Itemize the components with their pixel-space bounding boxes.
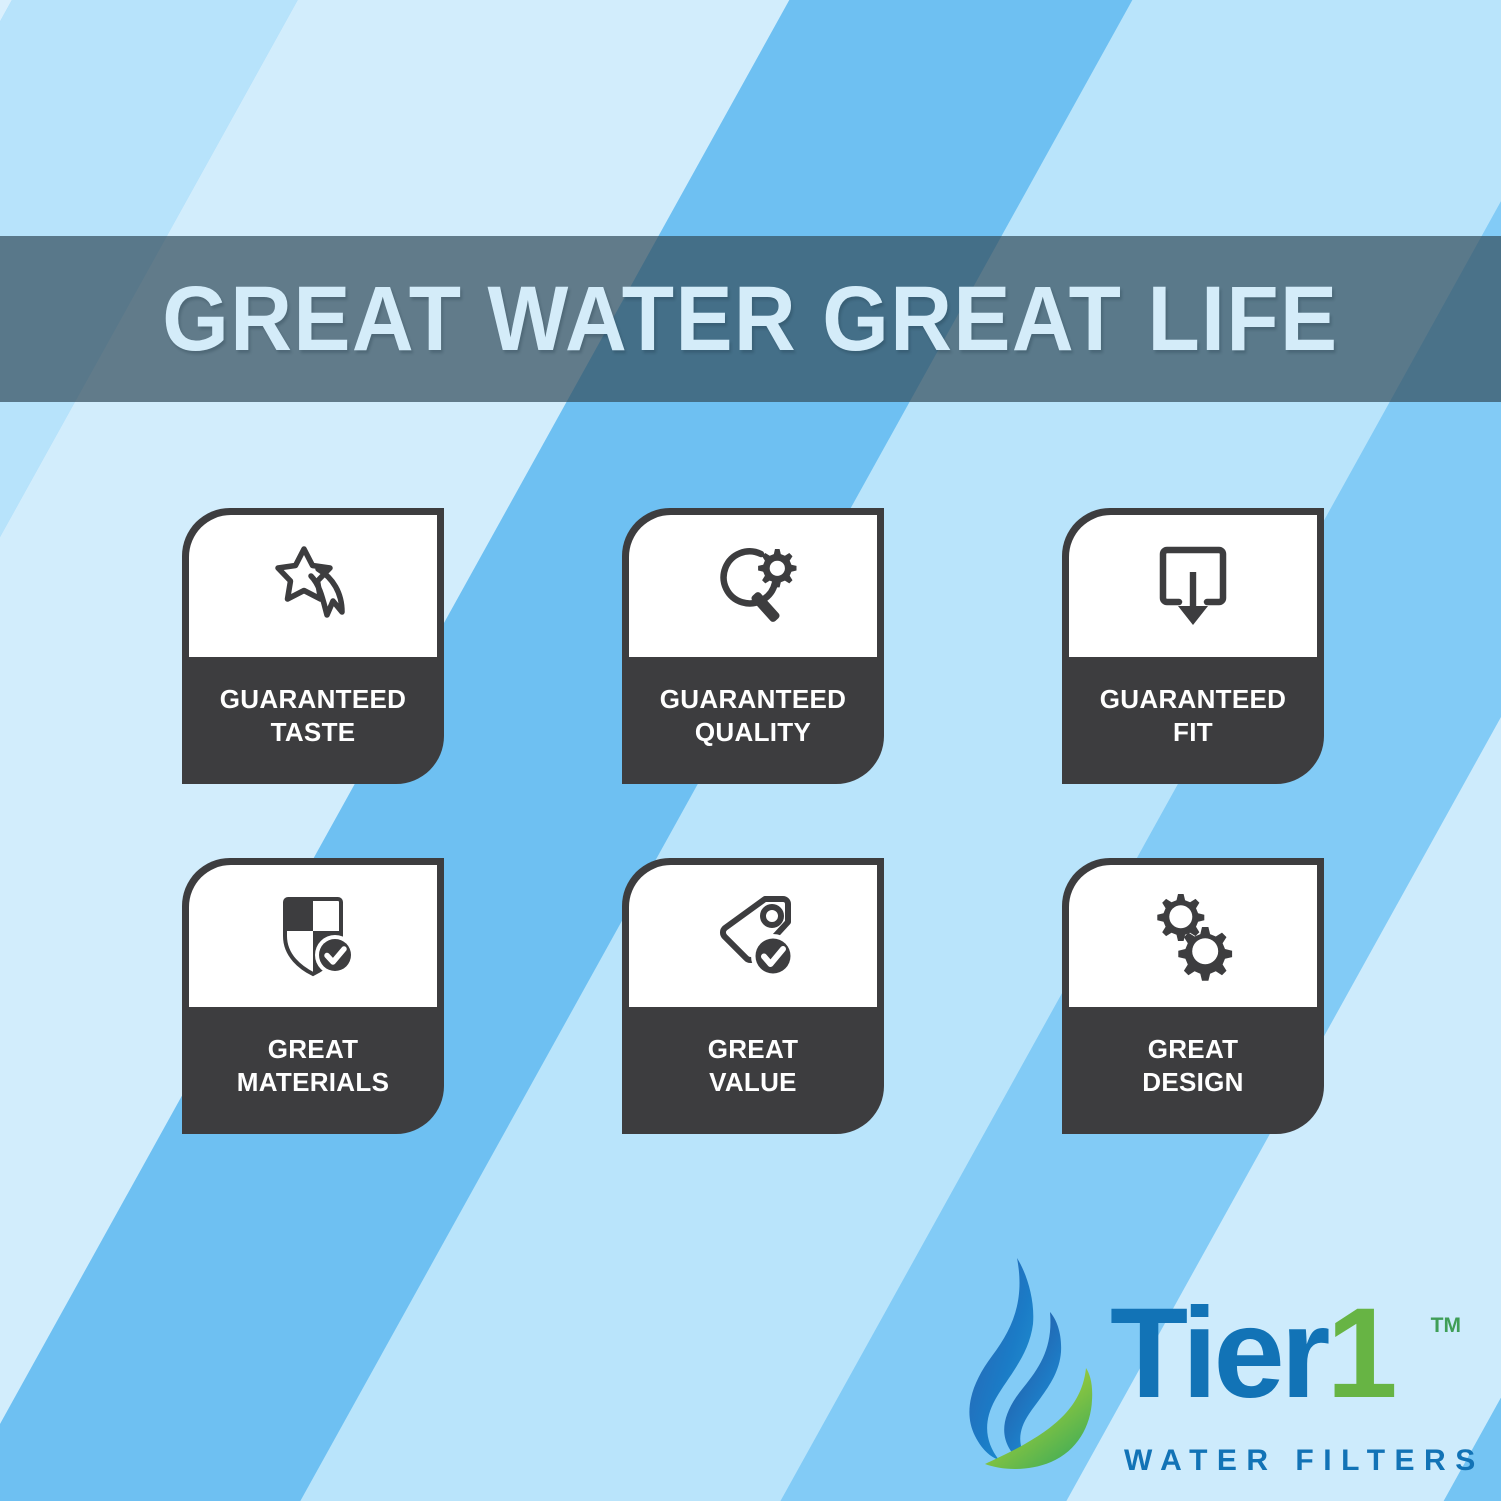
card-label: GREAT DESIGN [1062, 1007, 1324, 1134]
card-label: GREAT VALUE [622, 1007, 884, 1134]
card-label-line1: GUARANTEED [660, 683, 846, 716]
card-label-line2: DESIGN [1142, 1066, 1243, 1099]
card-icon-panel [1069, 515, 1317, 657]
card-label-line1: GREAT [1148, 1033, 1239, 1066]
card-label: GUARANTEED TASTE [182, 657, 444, 784]
two-gears-icon [1143, 886, 1243, 986]
card-label-line2: MATERIALS [237, 1066, 389, 1099]
card-label-line1: GREAT [708, 1033, 799, 1066]
feature-card-great-design[interactable]: GREAT DESIGN [1062, 858, 1324, 1134]
feature-card-guaranteed-quality[interactable]: GUARANTEED QUALITY [622, 508, 884, 784]
card-label-line1: GREAT [268, 1033, 359, 1066]
feature-card-guaranteed-fit[interactable]: GUARANTEED FIT [1062, 508, 1324, 784]
logo-brand-numeral: 1 [1326, 1282, 1393, 1425]
card-label-line2: QUALITY [695, 716, 811, 749]
water-drop-leaf-icon [955, 1252, 1105, 1478]
card-label-line2: FIT [1173, 716, 1213, 749]
card-label: GUARANTEED QUALITY [622, 657, 884, 784]
box-down-arrow-icon [1143, 536, 1243, 636]
price-tag-check-icon [703, 886, 803, 986]
poster-canvas: GREAT WATER GREAT LIFE GUARANTEED TASTE [0, 0, 1501, 1501]
logo-word-row: Tier1 [1110, 1290, 1394, 1418]
page-title: GREAT WATER GREAT LIFE [162, 273, 1338, 365]
feature-card-great-value[interactable]: GREAT VALUE [622, 858, 884, 1134]
trademark-symbol: TM [1431, 1314, 1461, 1338]
card-icon-panel [629, 865, 877, 1007]
card-label: GREAT MATERIALS [182, 1007, 444, 1134]
feature-card-guaranteed-taste[interactable]: GUARANTEED TASTE [182, 508, 444, 784]
logo-tagline: WATER FILTERS [1124, 1444, 1485, 1478]
feature-card-great-materials[interactable]: GREAT MATERIALS [182, 858, 444, 1134]
card-label-line1: GUARANTEED [220, 683, 406, 716]
card-icon-panel [629, 515, 877, 657]
card-icon-panel [1069, 865, 1317, 1007]
card-label-line2: TASTE [271, 716, 356, 749]
card-icon-panel [189, 865, 437, 1007]
shield-check-icon [263, 886, 363, 986]
card-icon-panel [189, 515, 437, 657]
shooting-star-icon [263, 536, 363, 636]
logo-brand-name: Tier [1110, 1282, 1326, 1425]
card-label: GUARANTEED FIT [1062, 657, 1324, 784]
brand-logo[interactable]: Tier1 TM WATER FILTERS [955, 1252, 1455, 1488]
magnifier-gear-icon [703, 536, 803, 636]
card-label-line1: GUARANTEED [1100, 683, 1286, 716]
card-label-line2: VALUE [709, 1066, 797, 1099]
headline-banner: GREAT WATER GREAT LIFE [0, 236, 1501, 402]
logo-wordmark: Tier1 TM WATER FILTERS [1110, 1272, 1455, 1482]
feature-card-grid: GUARANTEED TASTE GUARANTEED QUALITY [182, 508, 1348, 1134]
